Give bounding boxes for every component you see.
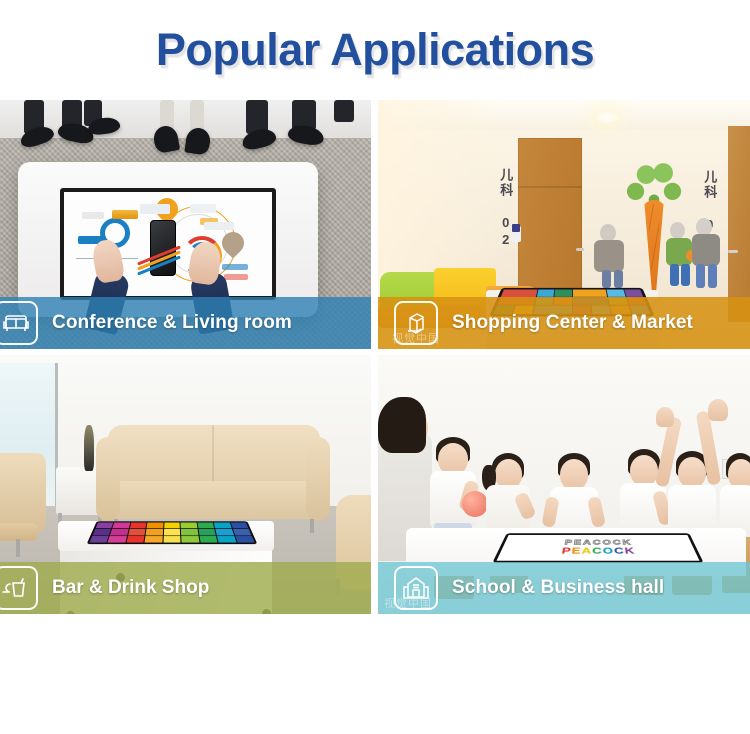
data-bar [112, 210, 138, 219]
app-tile [89, 536, 109, 543]
app-tile [197, 522, 214, 528]
mural-child-leg [614, 270, 623, 288]
caption-label: Bar & Drink Shop [52, 577, 209, 599]
app-tile [607, 290, 625, 297]
application-card-school-business-hall[interactable]: PEACOCK PEACOCK School & Business h [378, 355, 750, 614]
caption-bar: School & Business hall [378, 562, 750, 614]
sofa-cushion-seam [212, 425, 214, 485]
data-bar [204, 222, 234, 230]
child-head [678, 457, 706, 488]
app-tile [198, 529, 216, 535]
sofa-seat [104, 481, 324, 519]
caption-label: Shopping Center & Market [452, 312, 693, 334]
app-tile-grid [89, 522, 254, 542]
letter: A [581, 546, 591, 555]
data-bar [224, 274, 248, 280]
app-tile [113, 522, 131, 528]
app-tile [624, 290, 643, 297]
app-tile [232, 529, 251, 535]
sofa-icon [0, 301, 38, 345]
app-tile [93, 529, 112, 535]
app-tile [214, 522, 232, 528]
application-card-conference-living-room[interactable]: Conference & Living room [0, 100, 371, 349]
sofa-arm-left [96, 437, 120, 521]
app-tile [163, 536, 180, 543]
carrot-leaves [621, 162, 687, 204]
sofa-leg [310, 519, 314, 533]
sofa-backrest [108, 425, 320, 487]
mural-child-body [594, 240, 624, 272]
caption-bar: Shopping Center & Market [378, 297, 750, 349]
vase [84, 425, 94, 471]
app-tile [199, 536, 217, 543]
mural-child-leg [681, 264, 690, 286]
letter: E [571, 546, 581, 555]
caption-label: Conference & Living room [52, 312, 292, 334]
interactive-touch-table[interactable] [18, 162, 318, 317]
mural-child-leg [602, 270, 611, 288]
peacock-touch-screen[interactable]: PEACOCK PEACOCK [492, 533, 704, 563]
app-tile [126, 536, 144, 543]
teacher-hair [378, 397, 426, 453]
door-handle [576, 248, 584, 251]
app-tile [215, 529, 233, 535]
table-screen[interactable] [60, 188, 276, 300]
page-title: Popular Applications [0, 0, 750, 100]
letter: C [614, 546, 624, 555]
peacock-display: PEACOCK PEACOCK [497, 535, 700, 561]
school-building-icon [394, 566, 438, 610]
caption-bar: Bar & Drink Shop [0, 562, 371, 614]
app-tile [230, 522, 248, 528]
app-tile [145, 536, 163, 543]
app-tile [555, 290, 572, 297]
data-bar [222, 264, 248, 270]
app-tile [130, 522, 147, 528]
caption-bar: Conference & Living room [0, 297, 371, 349]
letter: C [592, 546, 602, 555]
toy-ball [462, 491, 488, 517]
drink-cup-icon [0, 566, 38, 610]
page-title-text: Popular Applications [156, 24, 594, 76]
chair-leg [16, 539, 20, 557]
app-tile [537, 290, 555, 297]
app-tile [235, 536, 255, 543]
door-handle [728, 250, 738, 253]
app-tile [572, 290, 607, 297]
person-leg [334, 100, 354, 122]
letter: O [603, 546, 614, 555]
letter: P [561, 546, 571, 555]
app-tile [164, 522, 180, 528]
data-bar [190, 204, 216, 213]
app-tile [108, 536, 127, 543]
app-tile [164, 529, 181, 535]
door-pediatrics-02 [518, 138, 582, 308]
data-bar [140, 204, 170, 214]
application-card-bar-drink-shop[interactable]: Bar & Drink Shop [0, 355, 371, 614]
door-panel-line [518, 186, 582, 188]
app-tile [181, 522, 197, 528]
ceiling-light [596, 112, 618, 123]
coffee-table-touch-screen[interactable] [87, 521, 258, 544]
mural-child-leg [670, 264, 679, 286]
app-tile [96, 522, 114, 528]
door-pediatrics-01 [728, 126, 750, 322]
app-tile [217, 536, 236, 543]
app-tile [147, 522, 163, 528]
data-bar [82, 212, 104, 219]
app-tile [110, 529, 128, 535]
caption-label: School & Business hall [452, 577, 664, 599]
mural-child-head [670, 222, 685, 239]
child-hand [708, 399, 728, 421]
child-head [630, 455, 658, 486]
dispenser-label [512, 224, 520, 232]
letter: K [624, 546, 635, 555]
app-tile [128, 529, 146, 535]
app-tile [181, 529, 198, 535]
mural-child-leg [708, 264, 717, 288]
mural-child-leg [696, 264, 705, 288]
peacock-color-word: PEACOCK [561, 546, 635, 555]
shopping-bag-icon [394, 301, 438, 345]
app-tile [146, 529, 163, 535]
mural-child-body [692, 234, 720, 266]
sofa-arm-right [306, 437, 330, 521]
armchair-left [0, 453, 46, 533]
child-hand [656, 407, 674, 427]
app-tile [181, 536, 199, 543]
application-card-shopping-center-market[interactable]: 儿科 02 儿科 01 [378, 100, 750, 349]
application-grid: Conference & Living room 儿科 02 儿科 01 [0, 100, 750, 713]
child-head [560, 459, 588, 490]
